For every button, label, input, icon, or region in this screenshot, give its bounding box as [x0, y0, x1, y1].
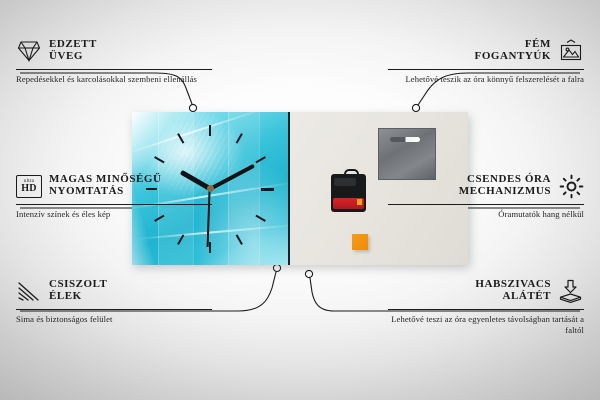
feature-silent-clock-mechanism: CSENDES ÓRA MECHANIZMUS	[388, 173, 584, 220]
hour-marker	[210, 188, 274, 190]
ultra-hd-badge-icon: ultra HD	[16, 173, 42, 199]
gear-icon	[558, 173, 584, 199]
diamond-icon	[16, 38, 42, 64]
wire-endpoint-foam-spacer	[305, 270, 312, 277]
feature-metal-handles: FÉM FOGANTYÚK Lehetővé teszik az óra kön…	[388, 38, 584, 85]
infographic-stage: EDZETT ÜVEG Repedésekkel és karcolásokka…	[0, 0, 600, 400]
feature-title-polished-edges: CSISZOLT ÉLEK	[49, 279, 107, 303]
feature-description-silent-clock-mechanism: Óramutatók hang nélkül	[388, 209, 584, 220]
feature-description-metal-handles: Lehetővé teszik az óra könnyű felszerelé…	[388, 74, 584, 85]
quartz-mechanism	[331, 174, 366, 212]
divider	[388, 69, 584, 70]
feature-title-tempered-glass: EDZETT ÜVEG	[49, 39, 97, 63]
foam-pad-icon	[558, 278, 584, 304]
feature-polished-edges: CSISZOLT ÉLEK Sima és biztonságos felüle…	[16, 278, 212, 325]
wire-endpoint-tempered-glass	[189, 104, 196, 111]
feature-foam-spacer: HABSZIVACS ALÁTÉT Lehetővé teszi az óra …	[388, 278, 584, 337]
feature-description-high-quality-print: Intenzív színek és éles kép	[16, 209, 212, 220]
divider	[388, 204, 584, 205]
badge-hd-label: HD	[21, 184, 37, 194]
divider	[16, 204, 212, 205]
feature-title-foam-spacer: HABSZIVACS ALÁTÉT	[475, 279, 551, 303]
feature-description-polished-edges: Sima és biztonságos felület	[16, 314, 212, 325]
polished-edges-icon	[16, 278, 42, 304]
mechanism-highlight	[334, 178, 356, 186]
divider	[16, 309, 212, 310]
feature-description-foam-spacer: Lehetővé teszi az óra egyenletes távolsá…	[388, 314, 584, 337]
feature-title-silent-clock-mechanism: CSENDES ÓRA MECHANIZMUS	[459, 174, 551, 198]
wall-hanger-icon	[558, 38, 584, 64]
battery	[333, 198, 364, 209]
feature-title-high-quality-print: MAGAS MINŐSÉGŰ NYOMTATÁS	[49, 174, 162, 198]
divider	[16, 69, 212, 70]
wire-endpoint-metal-handles	[412, 104, 419, 111]
feature-high-quality-print: ultra HD MAGAS MINŐSÉGŰ NYOMTATÁS Intenz…	[16, 173, 212, 220]
feature-tempered-glass: EDZETT ÜVEG Repedésekkel és karcolásokka…	[16, 38, 212, 85]
foam-spacer-pad	[352, 234, 368, 250]
feature-title-metal-handles: FÉM FOGANTYÚK	[475, 39, 551, 63]
divider	[388, 309, 584, 310]
feature-description-tempered-glass: Repedésekkel és karcolásokkal szembeni e…	[16, 74, 212, 85]
